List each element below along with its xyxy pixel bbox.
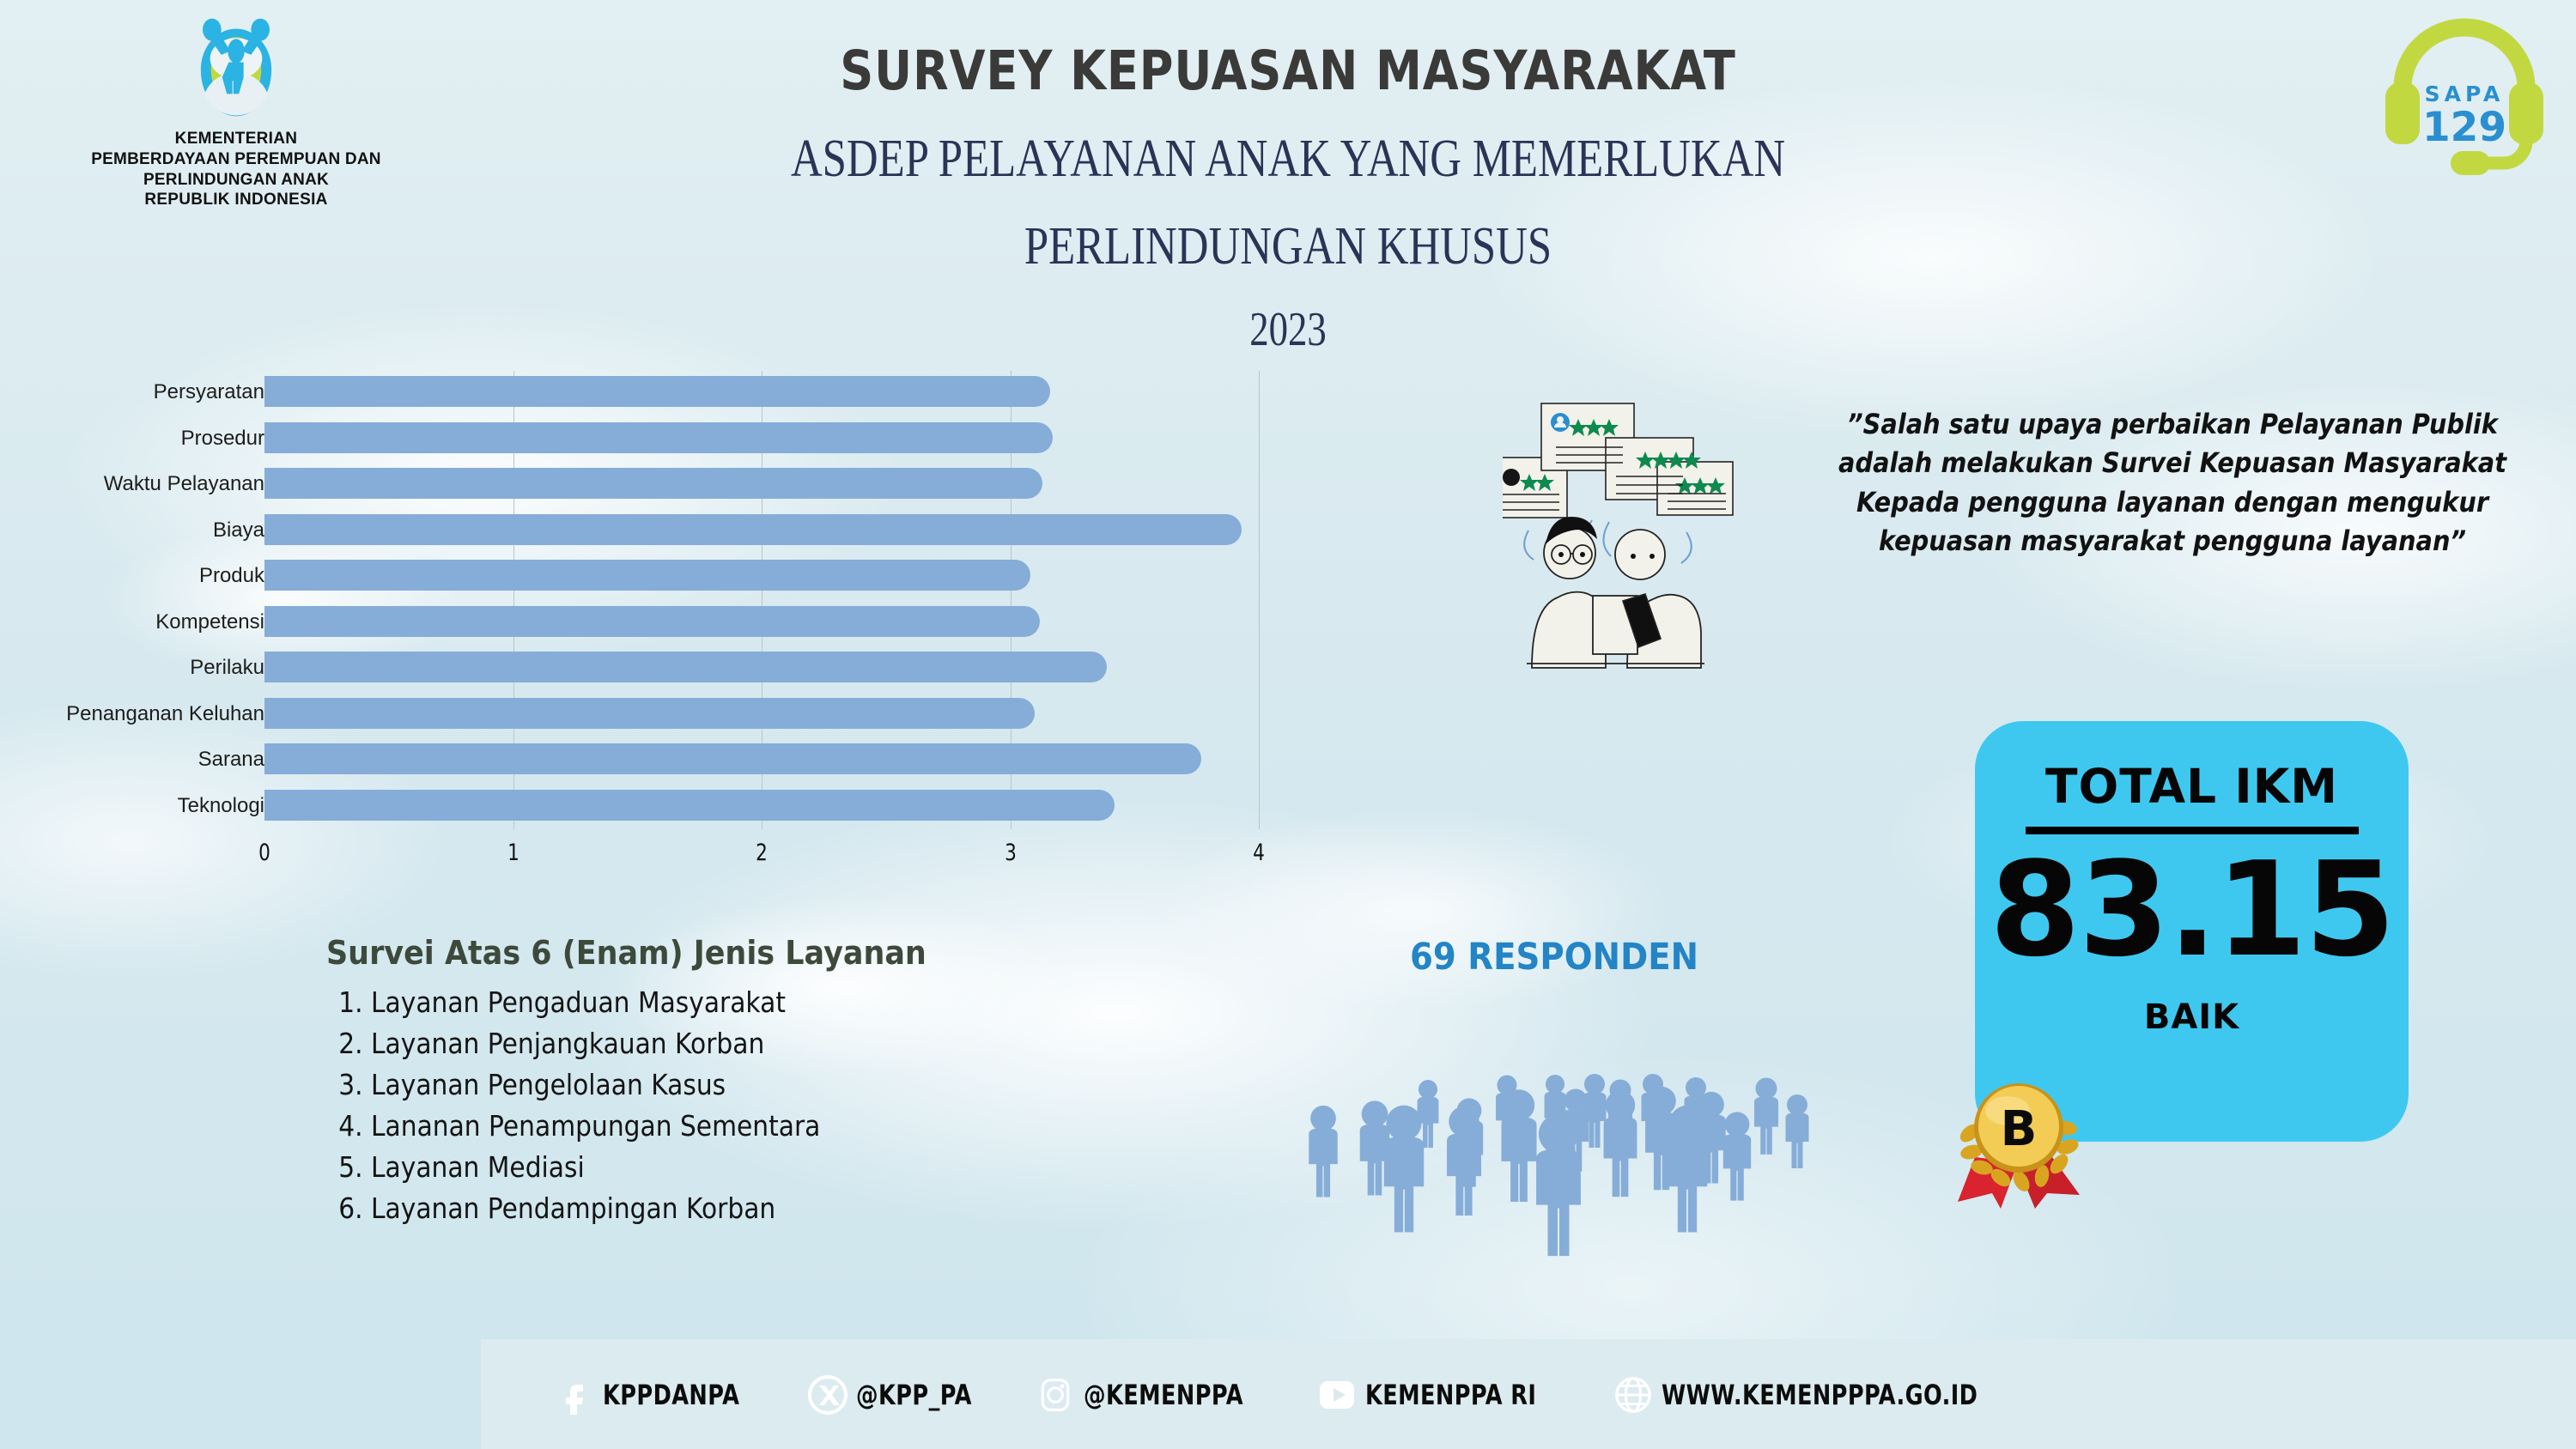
social-link-kpp-pa[interactable]: @KPP_PA bbox=[803, 1374, 1000, 1416]
category-label: Produk bbox=[0, 566, 264, 586]
review-illustration bbox=[1503, 385, 1795, 694]
ministry-emblem-icon bbox=[180, 12, 292, 124]
respondents-label: 69 RESPONDEN bbox=[1315, 936, 1794, 979]
person-icon bbox=[1754, 1077, 1778, 1154]
social-handle-text: @KEMENPPA bbox=[1084, 1379, 1243, 1411]
page-subtitle-line-2: PERLINDUNGAN KHUSUS bbox=[725, 216, 1851, 277]
x-axis-tick: 0 bbox=[258, 840, 270, 866]
x-axis-tick: 1 bbox=[507, 840, 519, 866]
ministry-line-2: PEMBERDAYAAN PEREMPUAN DAN PERLINDUNGAN … bbox=[34, 149, 438, 191]
person-icon bbox=[1418, 1080, 1439, 1148]
person-icon bbox=[1668, 1106, 1707, 1233]
social-link-kemenppa-ri[interactable]: KEMENPPA RI bbox=[1312, 1377, 1579, 1413]
grade-medal-badge: B bbox=[1951, 1073, 2101, 1210]
facebook-icon bbox=[550, 1375, 599, 1415]
category-label: Teknologi bbox=[0, 796, 264, 816]
crowd-illustration bbox=[1292, 1017, 1825, 1300]
social-handle-text: @KPP_PA bbox=[856, 1379, 972, 1411]
services-heading: Survei Atas 6 (Enam) Jenis Layanan bbox=[326, 934, 1084, 972]
ikm-grade-label: BAIK bbox=[1975, 997, 2409, 1037]
chart-bar bbox=[264, 468, 1042, 499]
quote-text: ”Salah satu upaya perbaikan Pelayanan Pu… bbox=[1817, 405, 2528, 561]
social-handle-text: KPPDANPA bbox=[603, 1379, 739, 1411]
category-label: Penanganan Keluhan bbox=[0, 704, 264, 724]
ministry-line-3: REPUBLIK INDONESIA bbox=[34, 190, 438, 210]
person-icon bbox=[1447, 1106, 1481, 1216]
services-list: Layanan Pengaduan MasyarakatLayanan Penj… bbox=[326, 987, 1151, 1225]
services-block: Survei Atas 6 (Enam) Jenis Layanan Layan… bbox=[326, 934, 1151, 1234]
x-axis-tick: 4 bbox=[1253, 840, 1265, 866]
satisfaction-bar-chart: 01234PersyaratanProsedurWaktu PelayananB… bbox=[0, 369, 1340, 901]
chart-bar bbox=[264, 698, 1035, 729]
category-label: Sarana bbox=[0, 749, 264, 770]
chart-bar bbox=[264, 743, 1201, 774]
sapa-word: SAPA bbox=[2425, 82, 2505, 106]
globe-icon bbox=[1608, 1374, 1658, 1416]
chart-bar bbox=[264, 376, 1050, 407]
person-icon bbox=[1501, 1089, 1536, 1202]
social-handle-text: WWW.KEMENPPPA.GO.ID bbox=[1662, 1379, 1978, 1411]
ministry-line-1: KEMENTERIAN bbox=[34, 129, 438, 149]
chart-bar bbox=[264, 514, 1242, 545]
person-icon bbox=[1309, 1106, 1337, 1197]
social-link-www-kemenpppa-go-id[interactable]: WWW.KEMENPPPA.GO.ID bbox=[1608, 1374, 2057, 1416]
social-handle-text: KEMENPPA RI bbox=[1365, 1379, 1536, 1411]
sapa-number: 129 bbox=[2422, 104, 2506, 151]
service-list-item: Layanan Pengelolaan Kasus bbox=[371, 1070, 1072, 1101]
ministry-logo: KEMENTERIAN PEMBERDAYAAN PEREMPUAN DAN P… bbox=[34, 12, 438, 210]
service-list-item: Layanan Penjangkauan Korban bbox=[371, 1028, 1072, 1060]
social-links-row: KPPDANPA@KPP_PA@KEMENPPAKEMENPPA RIWWW.K… bbox=[550, 1365, 2095, 1425]
category-label: Persyaratan bbox=[0, 382, 264, 403]
person-icon bbox=[1384, 1106, 1424, 1233]
chart-bar bbox=[264, 422, 1053, 453]
person-icon bbox=[1786, 1094, 1809, 1168]
ikm-score: 83.15 bbox=[1975, 845, 2409, 975]
service-list-item: Lananan Penampungan Sementara bbox=[371, 1111, 1072, 1143]
person-icon bbox=[1723, 1112, 1751, 1200]
x-twitter-icon bbox=[803, 1374, 853, 1416]
instagram-icon bbox=[1030, 1374, 1080, 1416]
page-title: SURVEY KEPUASAN MASYARAKAT bbox=[734, 39, 1842, 102]
chart-bar bbox=[264, 606, 1040, 637]
category-label: Waktu Pelayanan bbox=[0, 474, 264, 494]
chart-bar bbox=[264, 652, 1107, 682]
person-icon bbox=[1536, 1114, 1581, 1256]
chart-bar bbox=[264, 560, 1030, 591]
social-link-kppdanpa[interactable]: KPPDANPA bbox=[550, 1375, 774, 1415]
social-link-kemenppa[interactable]: @KEMENPPA bbox=[1030, 1374, 1283, 1416]
service-list-item: Layanan Mediasi bbox=[371, 1152, 1072, 1184]
page-subtitle-line-1: ASDEP PELAYANAN ANAK YANG MEMERLUKAN bbox=[725, 129, 1851, 190]
person-icon bbox=[1604, 1090, 1637, 1197]
category-label: Kompetensi bbox=[0, 612, 264, 633]
service-list-item: Layanan Pendampingan Korban bbox=[371, 1193, 1072, 1225]
sapa-129-logo: SAPA 129 bbox=[2379, 12, 2550, 175]
medal-letter: B bbox=[2001, 1101, 2038, 1157]
total-ikm-title: TOTAL IKM bbox=[1975, 721, 2409, 814]
chart-gridline bbox=[1259, 371, 1260, 829]
chart-bar bbox=[264, 790, 1115, 821]
service-list-item: Layanan Pengaduan Masyarakat bbox=[371, 987, 1072, 1019]
category-label: Biaya bbox=[0, 520, 264, 541]
category-label: Prosedur bbox=[0, 428, 264, 449]
category-label: Perilaku bbox=[0, 658, 264, 678]
youtube-icon bbox=[1312, 1377, 1362, 1413]
headset-icon: SAPA 129 bbox=[2379, 12, 2550, 175]
x-axis-tick: 3 bbox=[1005, 840, 1017, 866]
page-year: 2023 bbox=[738, 302, 1838, 357]
x-axis-tick: 2 bbox=[756, 840, 768, 866]
